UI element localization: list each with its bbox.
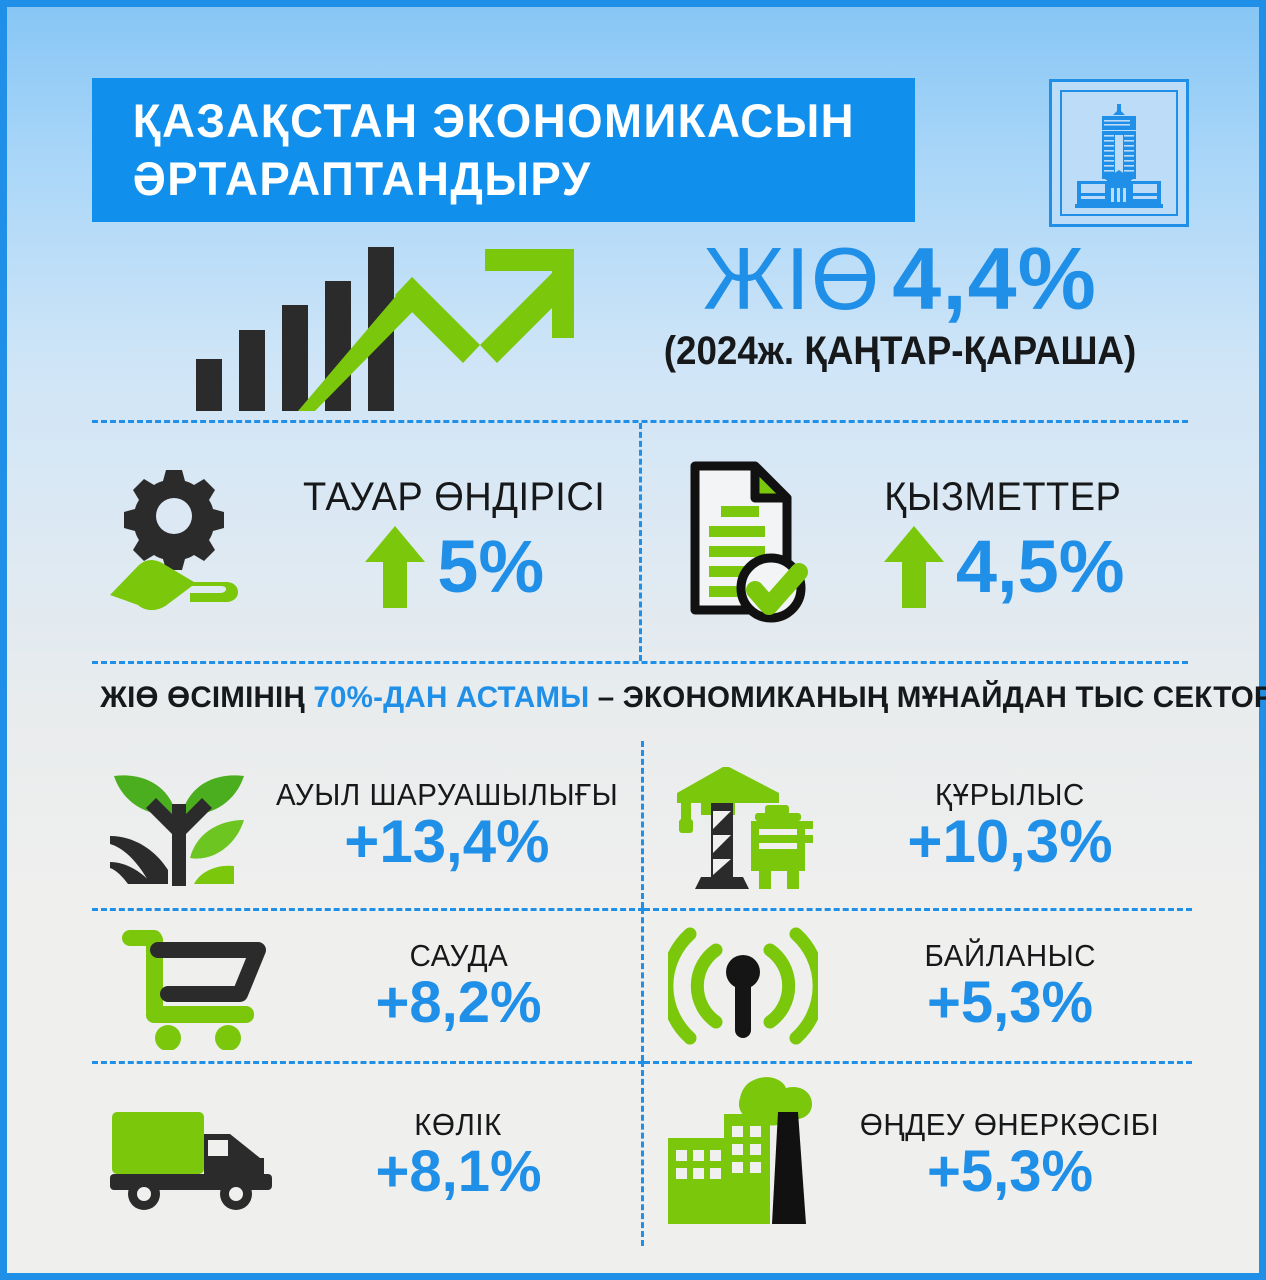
shopping-cart-icon	[92, 922, 290, 1050]
sector-cell-manufacturing: ӨҢДЕУ ӨНЕРКӘСІБІ +5,3%	[644, 1061, 1192, 1246]
sector-value-trade: +8,2%	[375, 972, 541, 1034]
gdp-value: 4,4%	[880, 229, 1097, 328]
non-oil-banner: ЖІӨ ӨСІМІНІҢ 70%-ДАН АСТАМЫ – ЭКОНОМИКАН…	[100, 679, 1184, 717]
sector-label-construction: ҚҰРЫЛЫС	[935, 777, 1085, 813]
goods-production-card: ТАУАР ӨНДІРІСІ 5%	[92, 423, 642, 661]
sector-label-manufacturing: ӨҢДЕУ ӨНЕРКӘСІБІ	[860, 1107, 1160, 1143]
gdp-line: ЖІӨ4,4%	[612, 231, 1188, 327]
signal-antenna-icon	[644, 922, 842, 1050]
sector-text-trade: САУДА +8,2%	[290, 938, 641, 1034]
sector-cell-communication: БАЙЛАНЫС +5,3%	[644, 908, 1192, 1061]
sector-cell-transport: КӨЛІК +8,1%	[92, 1061, 644, 1246]
goods-production-text: ТАУАР ӨНДІРІСІ 5%	[287, 474, 639, 610]
sector-value-communication: +5,3%	[927, 972, 1093, 1034]
gdp-hero-section: ЖІӨ4,4% (2024ж. ҚАҢТАР-ҚАРАША)	[92, 229, 1188, 419]
sector-cell-construction: ҚҰРЫЛЫС +10,3%	[644, 741, 1192, 908]
sector-value-agriculture: +13,4%	[344, 811, 549, 873]
gdp-label: ЖІӨ	[703, 229, 880, 328]
gdp-period: (2024ж. ҚАҢТАР-ҚАРАША)	[635, 327, 1165, 375]
goods-production-value: 5%	[437, 528, 544, 606]
sector-value-manufacturing: +5,3%	[927, 1141, 1093, 1203]
sector-text-construction: ҚҰРЫЛЫС +10,3%	[842, 777, 1192, 873]
hand-holding-gear-icon	[92, 462, 287, 622]
goods-production-value-row: 5%	[363, 524, 544, 610]
construction-crane-icon	[644, 759, 842, 891]
up-arrow-icon	[882, 524, 946, 610]
sector-value-transport: +8,1%	[375, 1141, 541, 1203]
up-arrow-icon	[363, 524, 427, 610]
sector-text-agriculture: АУЫЛ ШАРУАШЫЛЫҒЫ +13,4%	[267, 777, 641, 873]
document-check-icon	[642, 460, 837, 624]
banner-part-1: ЖІӨ ӨСІМІНІҢ	[100, 681, 313, 714]
sector-label-agriculture: АУЫЛ ШАРУАШЫЛЫҒЫ	[276, 777, 618, 813]
kazakhstan-government-house-emblem	[1071, 102, 1167, 214]
delivery-truck-icon	[92, 1096, 290, 1214]
sector-grid: АУЫЛ ШАРУАШЫЛЫҒЫ +13,4%	[92, 741, 1192, 1246]
banner-part-2: – ЭКОНОМИКАНЫҢ МҰНАЙДАН ТЫС СЕКТОРЫ:	[589, 681, 1266, 714]
sector-label-transport: КӨЛІК	[415, 1107, 503, 1143]
services-text: ҚЫЗМЕТТЕР 4,5%	[837, 474, 1189, 610]
gdp-readout: ЖІӨ4,4% (2024ж. ҚАҢТАР-ҚАРАША)	[612, 231, 1188, 375]
growth-bar-chart-arrow-icon	[180, 235, 580, 416]
services-value-row: 4,5%	[882, 524, 1125, 610]
sector-value-construction: +10,3%	[907, 811, 1112, 873]
services-card: ҚЫЗМЕТТЕР 4,5%	[642, 423, 1189, 661]
goods-production-label: ТАУАР ӨНДІРІСІ	[303, 474, 605, 520]
page-title: ҚАЗАҚСТАН ЭКОНОМИКАСЫН ӘРТАРАПТАНДЫРУ	[92, 92, 855, 208]
sector-label-communication: БАЙЛАНЫС	[924, 938, 1096, 974]
emblem-inner-frame	[1060, 90, 1178, 216]
sprout-field-icon	[92, 762, 267, 888]
factory-icon	[644, 1076, 842, 1234]
sector-cell-trade: САУДА +8,2%	[92, 908, 644, 1061]
infographic-canvas: ҚАЗАҚСТАН ЭКОНОМИКАСЫН ӘРТАРАПТАНДЫРУ	[0, 0, 1266, 1280]
sector-cell-agriculture: АУЫЛ ШАРУАШЫЛЫҒЫ +13,4%	[92, 741, 644, 908]
emblem-frame	[1049, 79, 1189, 227]
sector-label-trade: САУДА	[409, 938, 508, 974]
goods-services-section: ТАУАР ӨНДІРІСІ 5%	[92, 420, 1188, 664]
services-label: ҚЫЗМЕТТЕР	[885, 474, 1122, 520]
banner-highlight: 70%-ДАН АСТАМЫ	[313, 681, 589, 714]
sector-text-communication: БАЙЛАНЫС +5,3%	[842, 938, 1192, 1034]
sector-text-transport: КӨЛІК +8,1%	[290, 1107, 641, 1203]
sector-text-manufacturing: ӨҢДЕУ ӨНЕРКӘСІБІ +5,3%	[842, 1107, 1192, 1203]
services-value: 4,5%	[956, 528, 1125, 606]
header-banner: ҚАЗАҚСТАН ЭКОНОМИКАСЫН ӘРТАРАПТАНДЫРУ	[92, 78, 915, 222]
